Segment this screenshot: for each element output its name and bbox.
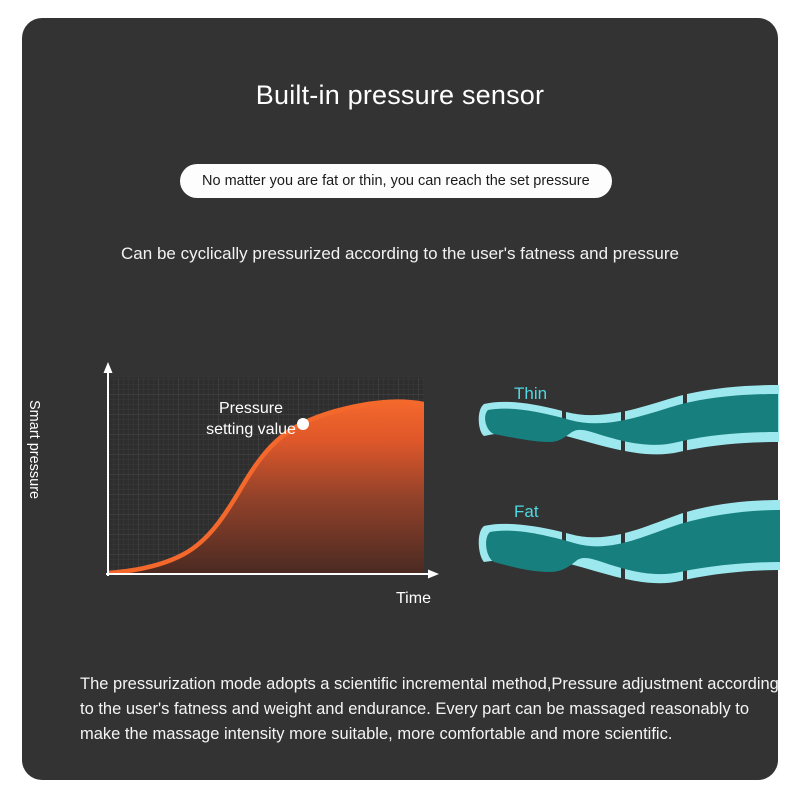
- chart-x-axis-label: Time: [396, 590, 431, 608]
- chart-y-axis-label: Smart pressure: [26, 400, 42, 560]
- chart-canvas: [58, 354, 448, 614]
- footer-paragraph: The pressurization mode adopts a scienti…: [80, 672, 780, 747]
- info-card: Built-in pressure sensor No matter you a…: [22, 18, 778, 780]
- highlight-badge: No matter you are fat or thin, you can r…: [180, 164, 612, 198]
- thin-leg-label: Thin: [514, 384, 547, 404]
- page-subtitle: Can be cyclically pressurized according …: [22, 244, 778, 264]
- chart-annotation: Pressure setting value: [186, 398, 316, 440]
- thin-leg-illustration: Thin: [474, 370, 784, 488]
- chart-annotation-line-1: Pressure: [186, 398, 316, 419]
- fat-leg-illustration: Fat: [474, 488, 784, 606]
- chart-annotation-line-2: setting value: [186, 419, 316, 440]
- pressure-chart: Smart pressure Pressure setting value Ti…: [58, 354, 448, 614]
- page-title: Built-in pressure sensor: [22, 80, 778, 111]
- fat-leg-label: Fat: [514, 502, 539, 522]
- screenshot-stage: Built-in pressure sensor No matter you a…: [0, 0, 800, 800]
- leg-illustrations: Thin: [474, 370, 784, 620]
